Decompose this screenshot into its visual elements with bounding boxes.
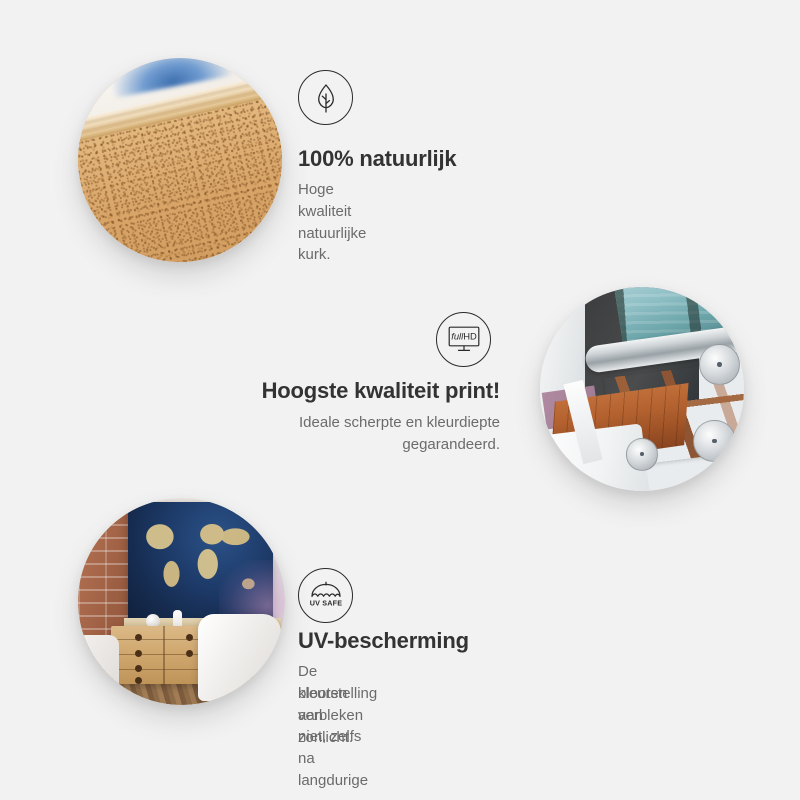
- uv-safe-umbrella-icon: UV SAFE: [308, 580, 344, 612]
- printer-disc: [693, 420, 736, 463]
- svg-text:fullHD: fullHD: [451, 330, 477, 341]
- fullhd-monitor-icon-badge: fullHD: [436, 312, 491, 367]
- photo-printer: [540, 287, 744, 491]
- drawer-knob: [135, 650, 142, 657]
- drawer-knob: [186, 634, 193, 641]
- printer-photo-scene: [540, 287, 744, 491]
- printer-disc: [699, 344, 740, 385]
- feature-title-print-quality: Hoogste kwaliteit print!: [160, 378, 500, 404]
- feature-description-natural: Hoge kwaliteit natuurlijke kurk.: [298, 179, 366, 266]
- fullhd-monitor-icon: fullHD: [447, 325, 481, 355]
- svg-text:UV SAFE: UV SAFE: [309, 598, 342, 607]
- white-armchair-secondary: [78, 635, 119, 697]
- feature-description-print-quality-line2: gegarandeerd.: [140, 434, 500, 456]
- printer-disc: [626, 438, 659, 471]
- drawer-knob: [186, 650, 193, 657]
- feature-title-uv-protection: UV-bescherming: [298, 628, 469, 654]
- drawer-knob: [135, 677, 142, 684]
- leaf-icon: [313, 82, 339, 114]
- features-panel: 100% natuurlijk Hoge kwaliteit natuurlij…: [0, 0, 800, 800]
- leaf-icon-badge: [298, 70, 353, 125]
- photo-room-worldmap: [78, 498, 285, 705]
- white-armchair: [198, 614, 281, 701]
- room-photo-scene: [78, 498, 285, 705]
- feature-description-uv-protection-line2: blootstelling aan zonlicht.: [298, 683, 377, 748]
- cork-photo-scene: [78, 58, 282, 262]
- uv-safe-icon-badge: UV SAFE: [298, 568, 353, 623]
- drawer-knob: [135, 665, 142, 672]
- photo-cork-closeup: [78, 58, 282, 262]
- feature-description-print-quality-line1: Ideale scherpte en kleurdiepte: [140, 412, 500, 434]
- drawer-knob: [135, 634, 142, 641]
- feature-title-natural: 100% natuurlijk: [298, 146, 456, 172]
